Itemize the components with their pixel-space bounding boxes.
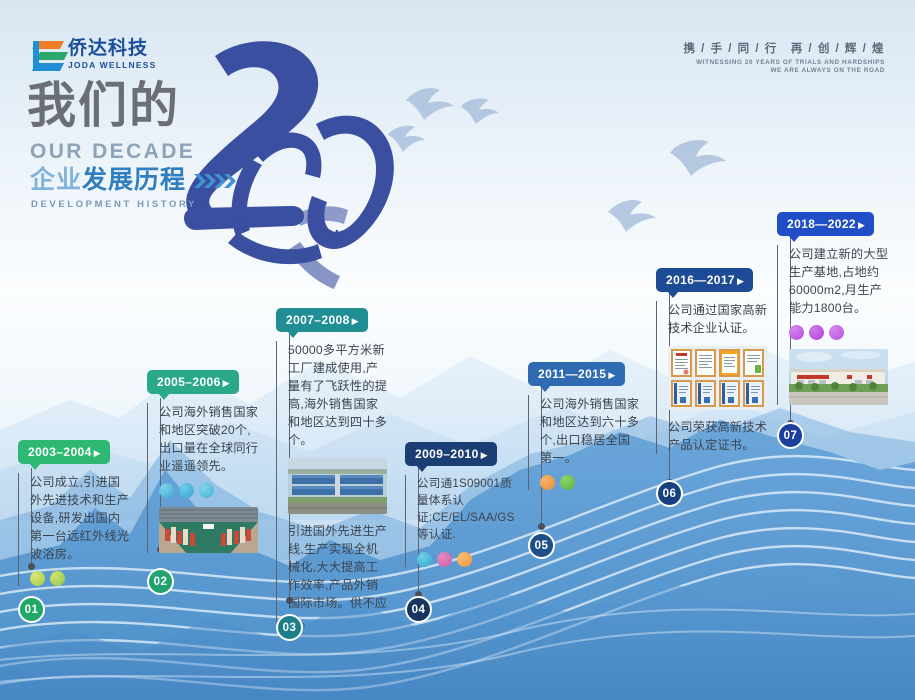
badge-arrow-icon: ▶ [94,448,101,458]
timeline-badge-01[interactable]: 2003–2004▶ [18,440,110,464]
timeline-period-05: 2011—2015 [538,367,606,381]
timeline-text-06: 公司通过国家高新技术企业认证。 [668,301,768,337]
timeline-marker-04[interactable]: 04 [405,596,432,623]
decor-dots-07 [789,325,889,340]
timeline-badge-02[interactable]: 2005–2006▶ [147,370,239,394]
badge-arrow-icon: ▶ [352,316,359,326]
timeline-period-01: 2003–2004 [28,445,92,459]
page-title-en: OUR DECADE [30,140,195,164]
timeline-text-04: 公司通1S09001质量体系认证;CE/EL/SAA/GS等认证. [417,475,517,544]
decor-dots-02 [159,483,259,498]
subtitle-part-light: 企业 [30,168,82,193]
tagline-en-line1: WITNESSING 20 YEARS OF TRIALS AND HARDSH… [683,59,885,66]
decor-dots-01 [30,571,130,586]
badge-arrow-icon: ▶ [223,378,230,388]
timeline-period-02: 2005–2006 [157,375,221,389]
timeline-card-02[interactable]: 2005–2006▶ 公司海外销售国家和地区突破20个,出口量在全球同行业遥遥领… [147,370,259,553]
timeline-marker-label-06: 06 [663,488,677,500]
timeline-marker-01[interactable]: 01 [18,596,45,623]
timeline-badge-07[interactable]: 2018—2022▶ [777,212,874,236]
page-subtitle-en: DEVELOPMENT HISTORY [31,199,197,210]
tagline-cn: 携 / 手 / 同 / 行 再 / 创 / 辉 / 煌 [683,40,885,56]
logo-name-cn: 侨达科技 [68,39,157,58]
timeline-marker-05[interactable]: 05 [528,532,555,559]
badge-arrow-icon: ▶ [608,370,615,380]
photo-factory-interior [159,507,258,553]
chevron-right-icon [194,172,238,190]
logo-mark-icon [28,36,62,72]
photo-factory-aerial [288,458,387,514]
timeline-badge-05[interactable]: 2011—2015▶ [528,362,625,386]
timeline-marker-label-04: 04 [412,604,426,616]
timeline-card-04[interactable]: 2009–2010▶ 公司通1S09001质量体系认证;CE/EL/SAA/GS… [405,442,517,567]
subtitle-part-dark: 发展历程 [82,168,186,193]
decor-dots-05 [540,475,640,490]
timeline-text-02: 公司海外销售国家和地区突破20个,出口量在全球同行业遥遥领先。 [159,403,259,475]
timeline-badge-04[interactable]: 2009–2010▶ [405,442,497,466]
timeline-period-04: 2009–2010 [415,447,479,461]
timeline-marker-02[interactable]: 02 [147,568,174,595]
timeline-badge-03[interactable]: 2007–2008▶ [276,308,368,332]
timeline-text-03b: 引进国外先进生产线,生产实现全机械化,大大提高工作效率,产品外销国际市场。供不应… [288,522,388,630]
tagline-block: 携 / 手 / 同 / 行 再 / 创 / 辉 / 煌 WITNESSING 2… [683,40,885,74]
anniversary-suffix: TH [318,227,340,244]
timeline-period-03: 2007–2008 [286,313,350,327]
timeline-marker-label-01: 01 [25,604,39,616]
timeline-period-07: 2018—2022 [787,217,856,231]
tagline-en-line2: WE ARE ALWAYS ON THE ROAD [683,67,885,74]
timeline-text-05: 公司海外销售国家和地区达到六十多个,出口稳居全国第一。 [540,395,640,467]
timeline-card-05[interactable]: 2011—2015▶ 公司海外销售国家和地区达到六十多个,出口稳居全国第一。 [528,362,640,490]
timeline-card-01[interactable]: 2003–2004▶ 公司成立,引进国外先进技术和生产设备,研发出国内第一台远红… [18,440,130,586]
timeline-marker-07[interactable]: 07 [777,422,804,449]
decor-dots-04 [417,552,517,567]
timeline-text-06b: 公司荣获高新技术产品认定证书。 [668,418,768,454]
timeline-text-01: 公司成立,引进国外先进技术和生产设备,研发出国内第一台远红外线光波浴房。 [30,473,130,563]
timeline-card-03[interactable]: 2007–2008▶ 50000多平方米新工厂建成使用,产量有了飞跃性的提高,海… [276,308,388,631]
timeline-text-07: 公司建立新的大型生产基地,占地约60000m2,月生产能力1800台。 [789,245,889,317]
page-title-cn: 我们的 [27,82,180,131]
timeline-card-07[interactable]: 2018—2022▶ 公司建立新的大型生产基地,占地约60000m2,月生产能力… [777,212,889,405]
photo-factory-exterior [789,349,888,405]
badge-arrow-icon: ▶ [737,276,744,286]
page-subtitle-cn: 企业发展历程 [30,168,238,193]
timeline-marker-label-05: 05 [535,540,549,552]
timeline-text-03: 50000多平方米新工厂建成使用,产量有了飞跃性的提高,海外销售国家和地区达到四… [288,341,388,449]
timeline-marker-label-03: 03 [283,622,297,634]
infographic-canvas: 侨达科技 JODA WELLNESS 我们的 OUR DECADE 企业发展历程… [0,0,915,700]
company-logo: 侨达科技 JODA WELLNESS [28,36,157,72]
timeline-marker-label-07: 07 [784,430,798,442]
timeline-card-06[interactable]: 2016—2017▶ 公司通过国家高新技术企业认证。 [656,268,768,454]
badge-arrow-icon: ▶ [481,450,488,460]
badge-arrow-icon: ▶ [858,220,865,230]
timeline-marker-03[interactable]: 03 [276,614,303,641]
logo-name-en: JODA WELLNESS [68,61,157,70]
timeline-marker-label-02: 02 [154,576,168,588]
photo-certificates [668,346,767,410]
timeline-badge-06[interactable]: 2016—2017▶ [656,268,753,292]
timeline-period-06: 2016—2017 [666,273,735,287]
timeline-marker-06[interactable]: 06 [656,480,683,507]
